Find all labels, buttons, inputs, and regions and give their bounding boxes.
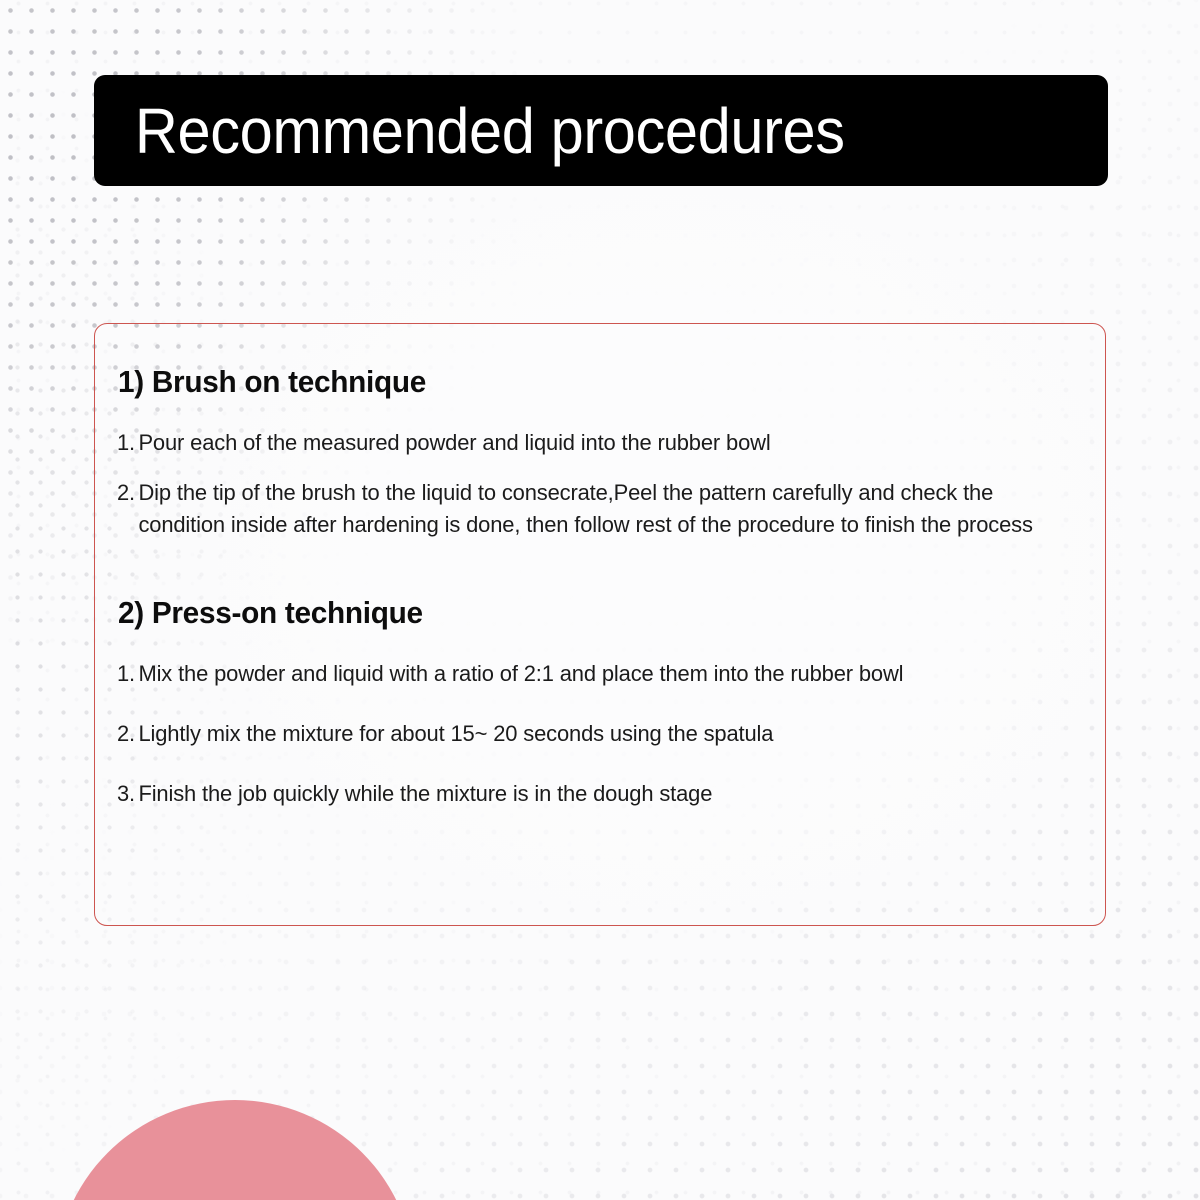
accent-circle-decoration [55,1100,415,1200]
step-text: Mix the powder and liquid with a ratio o… [138,658,1056,690]
page-title-bar: Recommended procedures [94,75,1108,186]
step-text: Pour each of the measured powder and liq… [138,427,1056,459]
section-press-on-technique: 2) Press-on technique 1. Mix the powder … [117,595,1081,810]
page-title: Recommended procedures [94,99,845,163]
section-heading: 1) Brush on technique [117,364,1042,400]
step-marker: 2. [117,718,138,750]
procedures-card: 1) Brush on technique 1. Pour each of th… [94,323,1106,926]
section-brush-on-technique: 1) Brush on technique 1. Pour each of th… [117,364,1081,541]
step-marker: 1. [117,658,138,690]
list-item: 2. Dip the tip of the brush to the liqui… [117,477,1057,541]
step-text: Finish the job quickly while the mixture… [138,778,1056,810]
step-marker: 1. [117,427,138,459]
steps-list: 1. Mix the powder and liquid with a rati… [117,658,1081,810]
step-text: Lightly mix the mixture for about 15~ 20… [138,718,1056,750]
list-item: 1. Pour each of the measured powder and … [117,427,1057,459]
list-item: 1. Mix the powder and liquid with a rati… [117,658,1057,690]
step-marker: 2. [117,477,138,509]
step-text: Dip the tip of the brush to the liquid t… [138,477,1056,541]
step-marker: 3. [117,778,138,810]
list-item: 2. Lightly mix the mixture for about 15~… [117,718,1057,750]
steps-list: 1. Pour each of the measured powder and … [117,427,1081,541]
section-heading: 2) Press-on technique [117,595,1042,631]
list-item: 3. Finish the job quickly while the mixt… [117,778,1057,810]
